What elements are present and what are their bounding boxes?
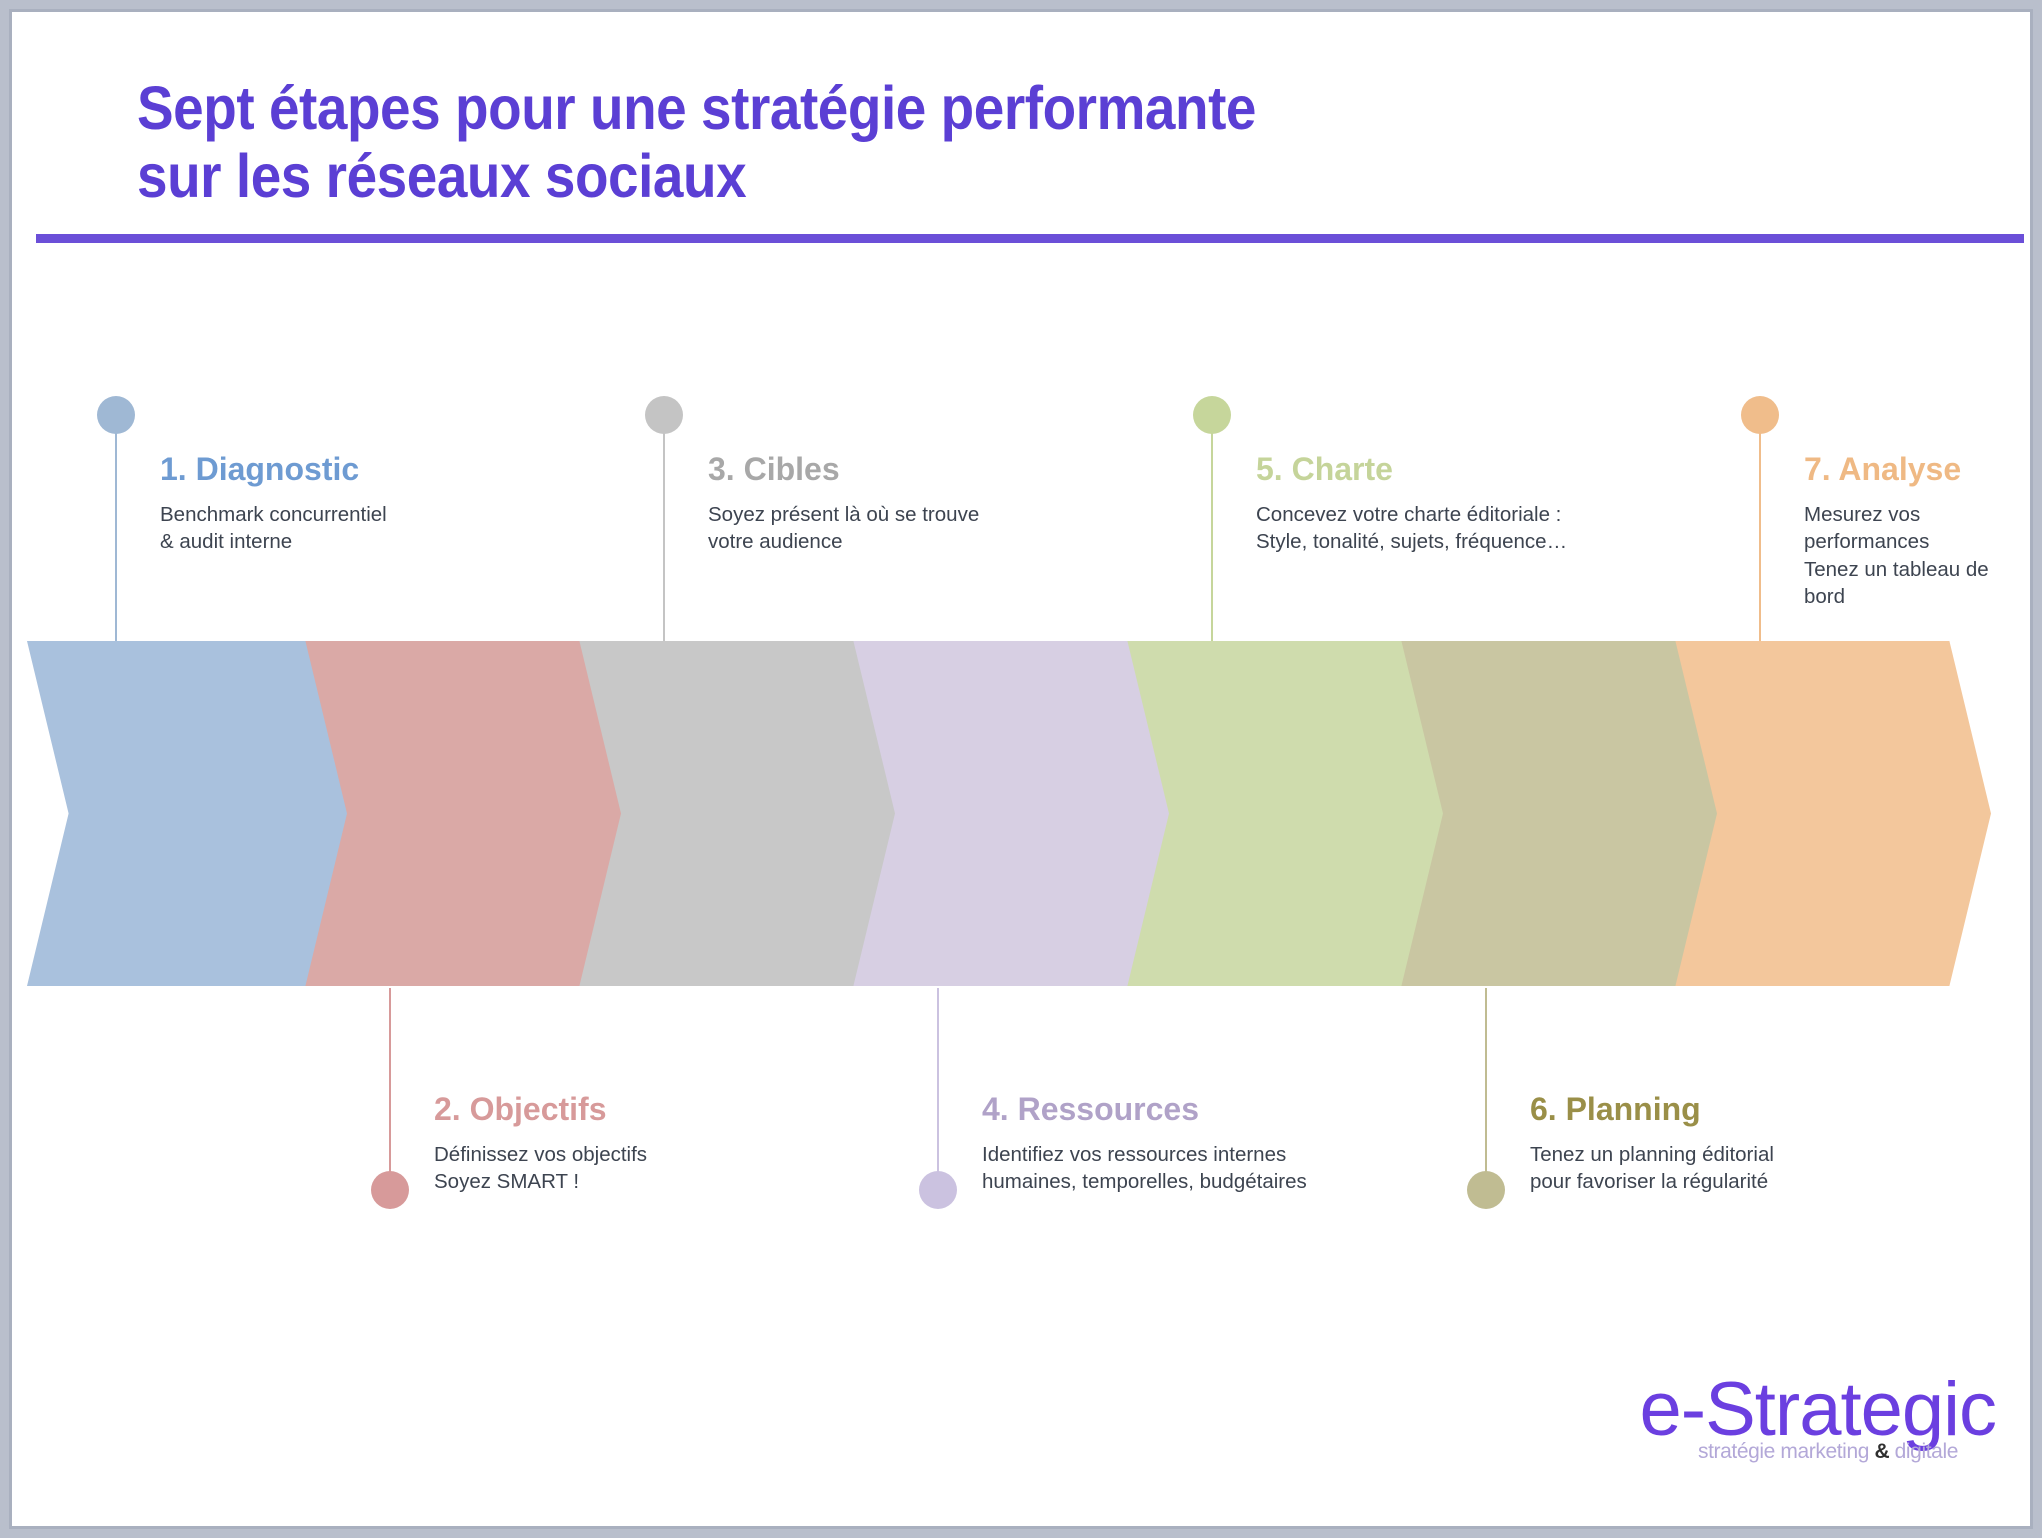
page-title: Sept étapes pour une stratégie performan…: [137, 74, 1397, 211]
chevron-step-1[interactable]: [27, 641, 347, 986]
step-connector-line-2: [389, 988, 391, 1193]
chevron-step-6[interactable]: [1397, 641, 1717, 986]
step-description-4: Identifiez vos ressources internes humai…: [982, 1141, 1307, 1196]
step-callout-4: 4. RessourcesIdentifiez vos ressources i…: [982, 1092, 1307, 1196]
chevron-step-4[interactable]: [849, 641, 1169, 986]
slide-header: Sept étapes pour une stratégie performan…: [12, 12, 2030, 262]
step-title-7: 7. Analyse: [1804, 452, 2030, 487]
step-marker-dot-5[interactable]: [1193, 396, 1231, 434]
step-description-3: Soyez présent là où se trouve votre audi…: [708, 501, 979, 556]
step-callout-3: 3. CiblesSoyez présent là où se trouve v…: [708, 452, 979, 556]
step-connector-line-3: [663, 422, 665, 642]
process-chevron-band: [27, 641, 1943, 986]
step-marker-dot-2[interactable]: [371, 1171, 409, 1209]
step-connector-line-6: [1485, 988, 1487, 1193]
step-connector-line-4: [937, 988, 939, 1193]
step-description-6: Tenez un planning éditorial pour favoris…: [1530, 1141, 1774, 1196]
logo-tagline-after: digitale: [1889, 1440, 1958, 1463]
company-logo: e-Strategic stratégie marketing & digita…: [1596, 1372, 1996, 1480]
step-title-1: 1. Diagnostic: [160, 452, 387, 487]
chevron-step-2[interactable]: [301, 641, 621, 986]
logo-tagline-amp: &: [1874, 1440, 1889, 1463]
chevron-step-7[interactable]: [1671, 641, 1991, 986]
step-marker-dot-4[interactable]: [919, 1171, 957, 1209]
step-marker-dot-3[interactable]: [645, 396, 683, 434]
step-title-4: 4. Ressources: [982, 1092, 1307, 1127]
title-divider: [36, 234, 2024, 243]
step-title-3: 3. Cibles: [708, 452, 979, 487]
step-marker-dot-7[interactable]: [1741, 396, 1779, 434]
chevron-step-5[interactable]: [1123, 641, 1443, 986]
step-description-5: Concevez votre charte éditoriale : Style…: [1256, 501, 1567, 556]
step-marker-dot-6[interactable]: [1467, 1171, 1505, 1209]
logo-wordmark: e-Strategic: [1640, 1372, 1997, 1448]
step-callout-1: 1. DiagnosticBenchmark concurrentiel & a…: [160, 452, 387, 556]
chevron-step-3[interactable]: [575, 641, 895, 986]
step-callout-5: 5. CharteConcevez votre charte éditorial…: [1256, 452, 1567, 556]
step-title-2: 2. Objectifs: [434, 1092, 647, 1127]
step-connector-line-1: [115, 422, 117, 642]
step-title-6: 6. Planning: [1530, 1092, 1774, 1127]
step-marker-dot-1[interactable]: [97, 396, 135, 434]
step-description-2: Définissez vos objectifs Soyez SMART !: [434, 1141, 647, 1196]
slide-frame: Sept étapes pour une stratégie performan…: [9, 9, 2033, 1529]
step-description-1: Benchmark concurrentiel & audit interne: [160, 501, 387, 556]
step-connector-line-7: [1759, 422, 1761, 642]
step-callout-6: 6. PlanningTenez un planning éditorial p…: [1530, 1092, 1774, 1196]
step-description-7: Mesurez vos performances Tenez un tablea…: [1804, 501, 2030, 610]
step-connector-line-5: [1211, 422, 1213, 642]
step-callout-2: 2. ObjectifsDéfinissez vos objectifs Soy…: [434, 1092, 647, 1196]
logo-tagline-before: stratégie marketing: [1698, 1440, 1874, 1463]
step-title-5: 5. Charte: [1256, 452, 1567, 487]
step-callout-7: 7. AnalyseMesurez vos performances Tenez…: [1804, 452, 2030, 610]
logo-tagline: stratégie marketing & digitale: [1698, 1440, 1958, 1464]
